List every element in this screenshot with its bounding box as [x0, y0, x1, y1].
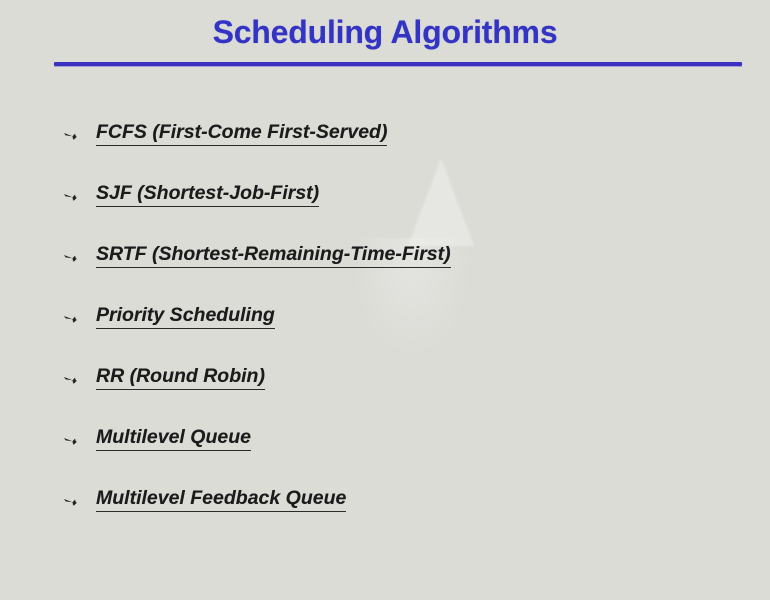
- list-item: SJF (Shortest-Job-First): [0, 181, 770, 242]
- list-item-label: FCFS (First-Come First-Served): [96, 120, 387, 146]
- list-item-label: Priority Scheduling: [96, 303, 275, 329]
- list-item-label: Multilevel Feedback Queue: [96, 486, 346, 512]
- page-title: Scheduling Algorithms: [213, 13, 558, 51]
- list-item: Multilevel Queue: [0, 425, 770, 486]
- arrow-right-bullet-icon: [63, 190, 80, 206]
- arrow-right-bullet-icon: [63, 373, 80, 389]
- title-block: Scheduling Algorithms: [0, 13, 770, 51]
- arrow-right-bullet-icon: [63, 129, 80, 145]
- list-item-label: RR (Round Robin): [96, 364, 265, 390]
- arrow-right-bullet-icon: [63, 312, 80, 328]
- list-item: Priority Scheduling: [0, 303, 770, 364]
- list-item-label: SJF (Shortest-Job-First): [96, 181, 319, 207]
- list-item-label: SRTF (Shortest-Remaining-Time-First): [96, 242, 451, 268]
- list-item: SRTF (Shortest-Remaining-Time-First): [0, 242, 770, 303]
- arrow-right-bullet-icon: [63, 495, 80, 511]
- title-divider-rule: [54, 62, 742, 66]
- list-item-label: Multilevel Queue: [96, 425, 251, 451]
- presentation-slide: Scheduling Algorithms FCFS (First-Come F…: [0, 0, 770, 600]
- algorithms-list: FCFS (First-Come First-Served) SJF (Shor…: [0, 120, 770, 547]
- list-item: FCFS (First-Come First-Served): [0, 120, 770, 181]
- arrow-right-bullet-icon: [63, 251, 80, 267]
- list-item: RR (Round Robin): [0, 364, 770, 425]
- arrow-right-bullet-icon: [63, 434, 80, 450]
- list-item: Multilevel Feedback Queue: [0, 486, 770, 547]
